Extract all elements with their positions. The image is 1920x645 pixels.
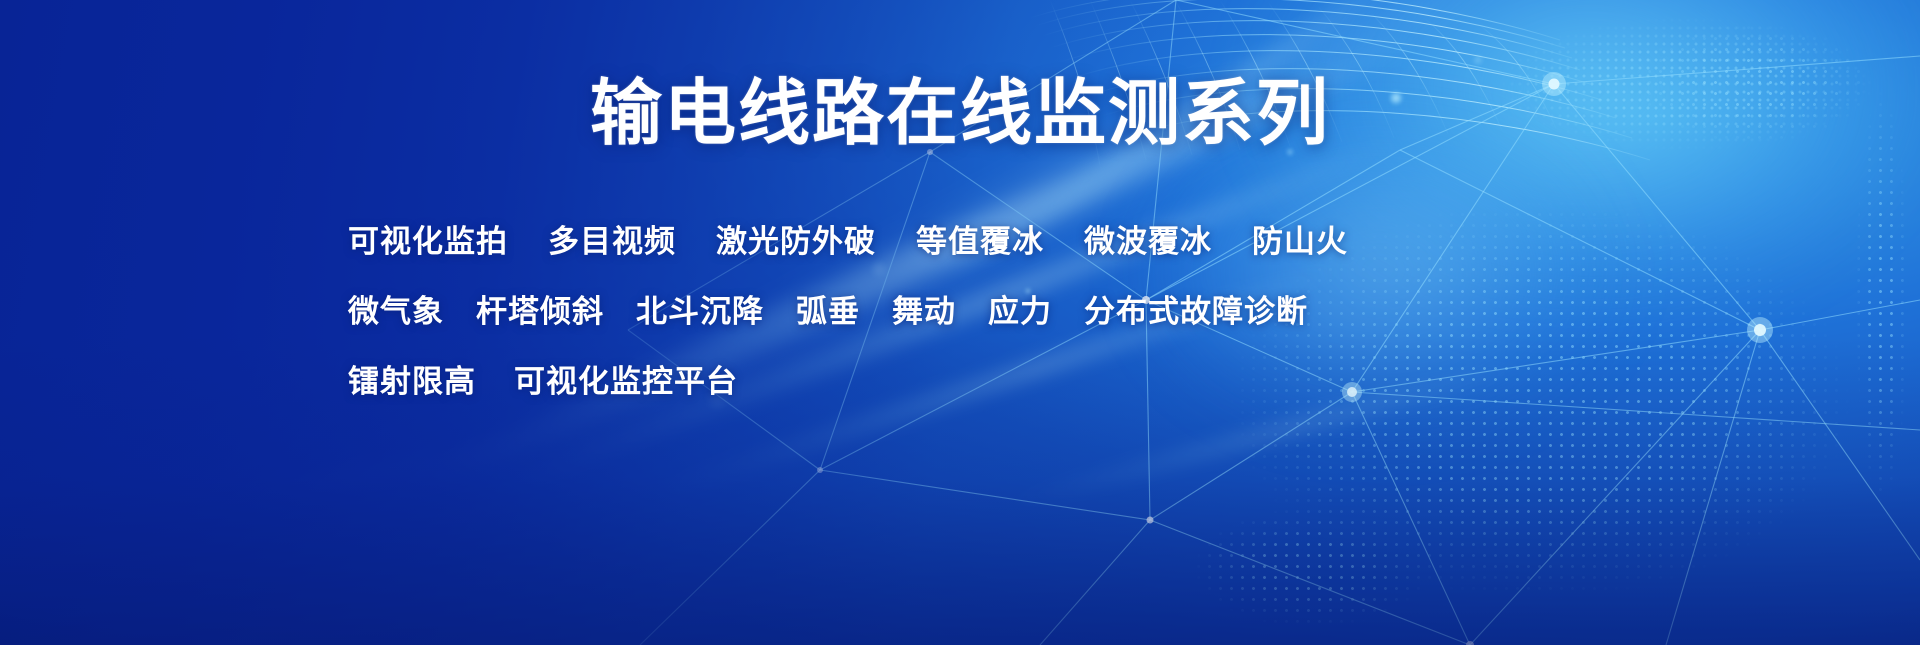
keyword-item[interactable]: 可视化监拍 — [348, 226, 508, 257]
keyword-row-1: 可视化监拍 多目视频 激光防外破 等值覆冰 微波覆冰 防山火 — [348, 206, 1288, 276]
keyword-item[interactable]: 弧垂 — [796, 296, 860, 327]
keyword-item[interactable]: 应力 — [988, 296, 1052, 327]
transmission-line-monitoring-banner: 输电线路在线监测系列 可视化监拍 多目视频 激光防外破 等值覆冰 微波覆冰 防山… — [0, 0, 1920, 645]
keyword-item[interactable]: 可视化监控平台 — [514, 366, 738, 397]
keyword-item[interactable]: 镭射限高 — [348, 366, 476, 397]
banner-title: 输电线路在线监测系列 — [0, 78, 1920, 150]
keyword-item[interactable]: 防山火 — [1252, 226, 1348, 257]
keyword-item[interactable]: 舞动 — [892, 296, 956, 327]
keyword-item[interactable]: 北斗沉降 — [636, 296, 764, 327]
keyword-row-2: 微气象 杆塔倾斜 北斗沉降 弧垂 舞动 应力 分布式故障诊断 — [348, 276, 1288, 346]
keyword-item[interactable]: 激光防外破 — [716, 226, 876, 257]
keyword-item[interactable]: 微气象 — [348, 296, 444, 327]
keyword-item[interactable]: 多目视频 — [548, 226, 676, 257]
keyword-list: 可视化监拍 多目视频 激光防外破 等值覆冰 微波覆冰 防山火 微气象 杆塔倾斜 … — [348, 206, 1288, 416]
keyword-row-3: 镭射限高 可视化监控平台 — [348, 346, 1288, 416]
banner-content: 输电线路在线监测系列 可视化监拍 多目视频 激光防外破 等值覆冰 微波覆冰 防山… — [0, 0, 1920, 645]
keyword-item[interactable]: 分布式故障诊断 — [1084, 296, 1308, 327]
keyword-item[interactable]: 杆塔倾斜 — [476, 296, 604, 327]
keyword-item[interactable]: 微波覆冰 — [1084, 226, 1212, 257]
keyword-item[interactable]: 等值覆冰 — [916, 226, 1044, 257]
